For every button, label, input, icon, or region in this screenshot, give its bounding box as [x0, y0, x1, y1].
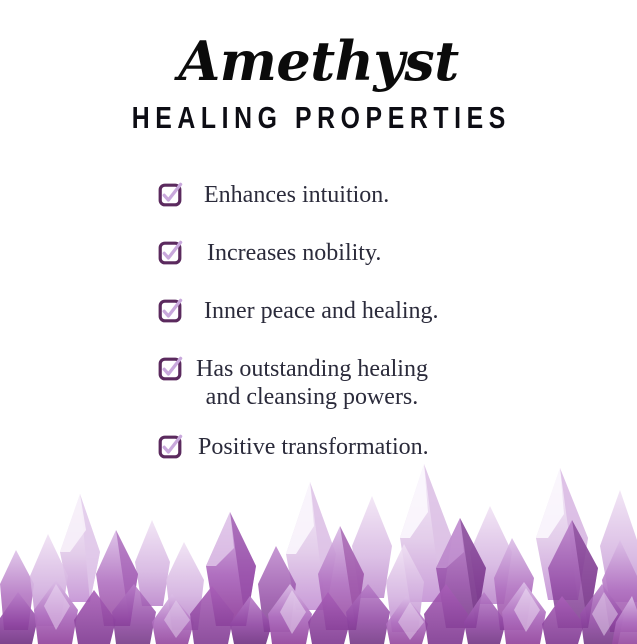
checkbox-checked-icon	[158, 183, 182, 207]
list-item: Has outstanding healing and cleansing po…	[0, 355, 637, 411]
healing-properties-list: Enhances intuition. Increases nobility. …	[0, 181, 637, 461]
checkbox-checked-icon	[158, 299, 182, 323]
checkbox-checked-icon	[158, 241, 182, 265]
list-item-label: Has outstanding healing and cleansing po…	[196, 355, 428, 411]
list-item-label: Enhances intuition.	[204, 181, 389, 209]
checkbox-checked-icon	[158, 357, 182, 381]
amethyst-healing-properties-poster: Amethyst HEALING PROPERTIES Enhances int…	[0, 0, 637, 644]
list-item-label: Inner peace and healing.	[204, 297, 439, 325]
page-subtitle: HEALING PROPERTIES	[64, 102, 574, 133]
list-item-label: Increases nobility.	[207, 239, 381, 267]
list-item: Increases nobility.	[0, 239, 637, 267]
heading-block: Amethyst HEALING PROPERTIES	[0, 34, 637, 133]
list-item: Inner peace and healing.	[0, 297, 637, 325]
list-item: Enhances intuition.	[0, 181, 637, 209]
page-title: Amethyst	[0, 34, 637, 88]
amethyst-crystal-cluster	[0, 434, 637, 644]
